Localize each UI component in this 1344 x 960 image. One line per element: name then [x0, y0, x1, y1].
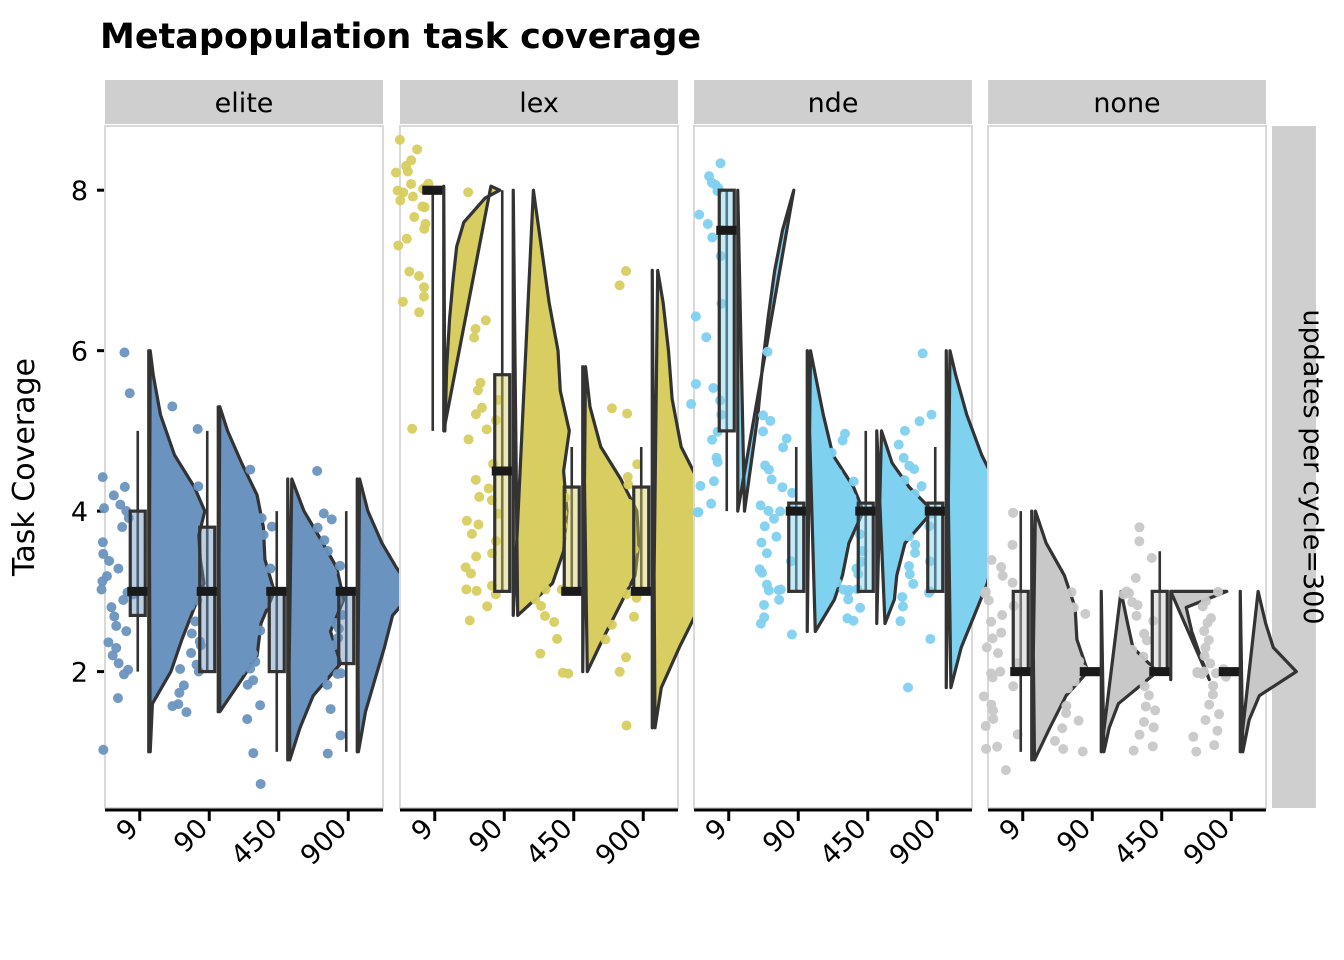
data-point [167, 401, 177, 411]
data-point [855, 603, 865, 613]
data-point [1063, 683, 1073, 693]
data-point [244, 597, 254, 607]
data-point [981, 721, 991, 731]
data-point [1008, 681, 1018, 691]
data-point [767, 475, 777, 485]
y-axis: 2468 [71, 176, 105, 688]
panel-lex: lex990450900 [391, 80, 708, 871]
data-point [709, 476, 719, 486]
data-point [1067, 587, 1077, 597]
raincloud-chart: Metapopulation task coverage2468Task Cov… [0, 0, 1344, 960]
data-point [1054, 624, 1064, 634]
data-point [1124, 657, 1134, 667]
data-point [1127, 669, 1137, 679]
data-point [175, 664, 185, 674]
data-point [1008, 508, 1018, 518]
data-point [239, 640, 249, 650]
data-point [604, 512, 614, 522]
data-point [844, 585, 854, 595]
data-point [267, 522, 277, 532]
data-point [109, 611, 119, 621]
median-marker [716, 226, 737, 235]
data-point [540, 408, 550, 418]
data-point [1199, 626, 1209, 636]
data-point [1129, 746, 1139, 756]
data-point [121, 626, 131, 636]
x-tick-label: 900 [884, 813, 942, 871]
data-point [104, 556, 114, 566]
data-point [605, 600, 615, 610]
panel-elite: elite990450900 [97, 80, 414, 871]
data-point [894, 440, 904, 450]
x-tick-label: 90 [1051, 813, 1097, 859]
box [858, 503, 873, 591]
median-marker [336, 587, 357, 596]
data-point [621, 266, 631, 276]
data-point [552, 634, 562, 644]
data-point [622, 409, 632, 419]
data-point [313, 523, 323, 533]
x-tick-label: 90 [757, 813, 803, 859]
x-tick-label: 450 [814, 813, 872, 871]
data-point [997, 610, 1007, 620]
box [495, 375, 510, 592]
data-point [335, 561, 345, 571]
data-point [759, 600, 769, 610]
data-point [757, 568, 767, 578]
data-point [988, 714, 998, 724]
data-point [467, 529, 477, 539]
data-point [190, 509, 200, 519]
data-point [621, 652, 631, 662]
data-point [837, 540, 847, 550]
data-point [908, 579, 918, 589]
median-marker [561, 587, 582, 596]
data-point [1192, 667, 1202, 677]
data-point [925, 634, 935, 644]
data-point [537, 319, 547, 329]
median-marker [197, 587, 218, 596]
box [1013, 591, 1028, 671]
data-point [117, 522, 127, 532]
data-point [185, 496, 195, 506]
data-point [1134, 522, 1144, 532]
data-point [402, 234, 412, 244]
data-point [471, 475, 481, 485]
x-tick-label: 90 [463, 813, 509, 859]
data-point [756, 538, 766, 548]
data-point [986, 617, 996, 627]
data-point [484, 483, 494, 493]
x-tick-label: 450 [225, 813, 283, 871]
data-point [1188, 732, 1198, 742]
data-point [172, 539, 182, 549]
data-point [395, 135, 405, 145]
data-point [758, 427, 768, 437]
y-tick-label: 2 [71, 658, 88, 689]
data-point [982, 642, 992, 652]
median-marker [786, 507, 807, 516]
data-point [408, 192, 418, 202]
data-point [113, 564, 123, 574]
data-point [549, 617, 559, 627]
data-point [265, 564, 275, 574]
box [269, 591, 284, 671]
data-point [1008, 578, 1018, 588]
box [928, 503, 943, 591]
median-marker [1219, 667, 1240, 676]
data-point [1200, 643, 1210, 653]
data-point [1138, 652, 1148, 662]
data-point [237, 577, 247, 587]
strip-label-none: none [1093, 88, 1160, 119]
data-point [621, 720, 631, 730]
data-point [167, 611, 177, 621]
data-point [1212, 726, 1222, 736]
x-tick-label: 900 [590, 813, 648, 871]
data-point [695, 481, 705, 491]
data-point [979, 691, 989, 701]
x-tick-label: 90 [168, 813, 214, 859]
data-point [691, 379, 701, 389]
data-point [125, 388, 135, 398]
data-point [412, 144, 422, 154]
data-point [99, 503, 109, 513]
data-point [1134, 536, 1144, 546]
data-point [419, 224, 429, 234]
data-point [782, 433, 792, 443]
data-point [623, 480, 633, 490]
data-point [910, 489, 920, 499]
data-point [541, 568, 551, 578]
data-point [774, 595, 784, 605]
data-point [404, 267, 414, 277]
data-point [245, 465, 255, 475]
data-point [109, 490, 119, 500]
data-point [619, 578, 629, 588]
data-point [536, 601, 546, 611]
data-point [1139, 717, 1149, 727]
box [564, 487, 579, 591]
data-point [563, 669, 573, 679]
data-point [908, 506, 918, 516]
data-point [827, 448, 837, 458]
data-point [825, 460, 835, 470]
data-point [756, 619, 766, 629]
median-marker [855, 507, 876, 516]
data-point [849, 476, 859, 486]
data-point [327, 514, 337, 524]
x-tick-label: 900 [1178, 813, 1236, 871]
data-point [259, 530, 269, 540]
data-point [1148, 741, 1158, 751]
data-point [1080, 609, 1090, 619]
data-point [760, 521, 770, 531]
data-point [406, 179, 416, 189]
data-point [1141, 701, 1151, 711]
data-point [120, 482, 130, 492]
median-marker [422, 186, 443, 195]
data-point [550, 537, 560, 547]
data-point [97, 585, 107, 595]
data-point [764, 465, 774, 475]
data-point [462, 516, 472, 526]
data-point [1149, 722, 1159, 732]
data-point [465, 615, 475, 625]
data-point [615, 280, 625, 290]
data-point [1214, 709, 1224, 719]
data-point [981, 587, 991, 597]
data-point [1069, 665, 1079, 675]
data-point [532, 548, 542, 558]
data-point [535, 649, 545, 659]
data-point [1053, 666, 1063, 676]
data-point [703, 219, 713, 229]
data-point [826, 481, 836, 491]
data-point [249, 584, 259, 594]
x-tick-label: 450 [1108, 813, 1166, 871]
panel-bg-none [988, 126, 1266, 808]
data-point [1061, 708, 1071, 718]
data-point [172, 587, 182, 597]
data-point [1001, 765, 1011, 775]
data-point [119, 669, 129, 679]
median-marker [266, 587, 287, 596]
data-point [707, 232, 717, 242]
data-point [193, 424, 203, 434]
data-point [317, 659, 327, 669]
data-point [246, 568, 256, 578]
data-point [686, 399, 696, 409]
data-point [322, 680, 332, 690]
median-marker [1149, 667, 1170, 676]
panel-nde: nde990450900 [686, 80, 1002, 871]
data-point [1213, 587, 1223, 597]
box [130, 511, 145, 615]
data-point [181, 707, 191, 717]
data-point [1204, 700, 1214, 710]
data-point [391, 168, 401, 178]
data-point [323, 749, 333, 759]
data-point [319, 535, 329, 545]
data-point [461, 584, 471, 594]
data-point [414, 271, 424, 281]
data-point [170, 570, 180, 580]
data-point [482, 601, 492, 611]
data-point [776, 585, 786, 595]
data-point [419, 282, 429, 292]
data-point [236, 666, 246, 676]
data-point [248, 748, 258, 758]
data-point [1050, 736, 1060, 746]
data-point [1142, 635, 1152, 645]
data-point [482, 424, 492, 434]
data-point [471, 324, 481, 334]
box [200, 527, 215, 671]
data-point [541, 481, 551, 491]
median-marker [127, 587, 148, 596]
data-point [186, 648, 196, 658]
data-point [172, 554, 182, 564]
data-point [414, 307, 424, 317]
median-marker [631, 587, 652, 596]
data-point [996, 562, 1006, 572]
data-point [1065, 644, 1075, 654]
data-point [464, 434, 474, 444]
data-point [1198, 601, 1208, 611]
data-point [762, 548, 772, 558]
data-point [1050, 595, 1060, 605]
data-point [395, 195, 405, 205]
data-point [629, 612, 639, 622]
data-point [111, 621, 121, 631]
data-point [248, 552, 258, 562]
data-point [466, 569, 476, 579]
data-point [473, 519, 483, 529]
strip-label-lex: lex [519, 88, 559, 119]
data-point [98, 537, 108, 547]
data-point [787, 629, 797, 639]
data-point [106, 602, 116, 612]
data-point [481, 315, 491, 325]
data-point [311, 585, 321, 595]
data-point [701, 332, 711, 342]
data-point [693, 507, 703, 517]
data-point [403, 166, 413, 176]
data-point [1078, 746, 1088, 756]
data-point [706, 499, 716, 509]
data-point [398, 297, 408, 307]
data-point [255, 626, 265, 636]
data-point [846, 492, 856, 502]
data-point [708, 383, 718, 393]
data-point [243, 680, 253, 690]
chart-title: Metapopulation task coverage [100, 17, 701, 57]
data-point [771, 532, 781, 542]
data-point [474, 492, 484, 502]
data-point [538, 515, 548, 525]
data-point [471, 552, 481, 562]
data-point [769, 514, 779, 524]
right-strip: updates per cycle=300 [1272, 126, 1328, 808]
data-point [621, 589, 631, 599]
data-point [915, 416, 925, 426]
data-point [906, 517, 916, 527]
data-point [185, 601, 195, 611]
data-point [1140, 681, 1150, 691]
data-point [777, 482, 787, 492]
data-point [765, 416, 775, 426]
data-point [167, 701, 177, 711]
data-point [1127, 645, 1137, 655]
data-point [119, 348, 129, 358]
data-point [259, 599, 269, 609]
box [1152, 591, 1167, 671]
data-point [393, 240, 403, 250]
data-point [256, 779, 266, 789]
data-point [987, 555, 997, 565]
data-point [1205, 659, 1215, 669]
data-point [536, 461, 546, 471]
data-point [897, 592, 907, 602]
data-point [988, 672, 998, 682]
data-point [848, 616, 858, 626]
data-point [900, 426, 910, 436]
data-point [1208, 689, 1218, 699]
data-point [601, 585, 611, 595]
data-point [336, 668, 346, 678]
data-point [917, 481, 927, 491]
x-tick-label: 450 [520, 813, 578, 871]
data-point [114, 658, 124, 668]
median-marker [1010, 667, 1031, 676]
data-point [312, 466, 322, 476]
data-point [1058, 744, 1068, 754]
data-point [900, 475, 910, 485]
data-point [419, 292, 429, 302]
median-marker [1080, 667, 1101, 676]
data-point [166, 472, 176, 482]
data-point [243, 609, 253, 619]
data-point [838, 435, 848, 445]
data-point [1132, 611, 1142, 621]
data-point [545, 497, 555, 507]
data-point [843, 594, 853, 604]
data-point [98, 472, 108, 482]
data-point [895, 616, 905, 626]
data-point [607, 564, 617, 574]
box [339, 591, 354, 663]
data-point [327, 568, 337, 578]
median-marker [492, 467, 513, 476]
data-point [1069, 602, 1079, 612]
data-point [409, 212, 419, 222]
data-point [315, 600, 325, 610]
data-point [713, 457, 723, 467]
data-point [113, 693, 123, 703]
data-point [905, 569, 915, 579]
data-point [996, 628, 1006, 638]
data-point [118, 595, 128, 605]
data-point [1191, 747, 1201, 757]
data-point [988, 633, 998, 643]
data-point [244, 504, 254, 514]
data-point [620, 539, 630, 549]
data-point [326, 704, 336, 714]
data-point [898, 602, 908, 612]
data-point [472, 586, 482, 596]
data-point [984, 595, 994, 605]
data-point [992, 742, 1002, 752]
data-point [469, 333, 479, 343]
data-point [981, 744, 991, 754]
data-point [174, 688, 184, 698]
data-point [1133, 600, 1143, 610]
data-point [1124, 588, 1134, 598]
data-point [716, 158, 726, 168]
data-point [691, 311, 701, 321]
data-point [178, 528, 188, 538]
data-point [1208, 681, 1218, 691]
data-point [407, 424, 417, 434]
data-point [540, 611, 550, 621]
data-point [471, 409, 481, 419]
y-tick-label: 8 [71, 176, 88, 207]
data-point [336, 730, 346, 740]
data-point [541, 584, 551, 594]
data-point [187, 629, 197, 639]
box [789, 503, 804, 591]
